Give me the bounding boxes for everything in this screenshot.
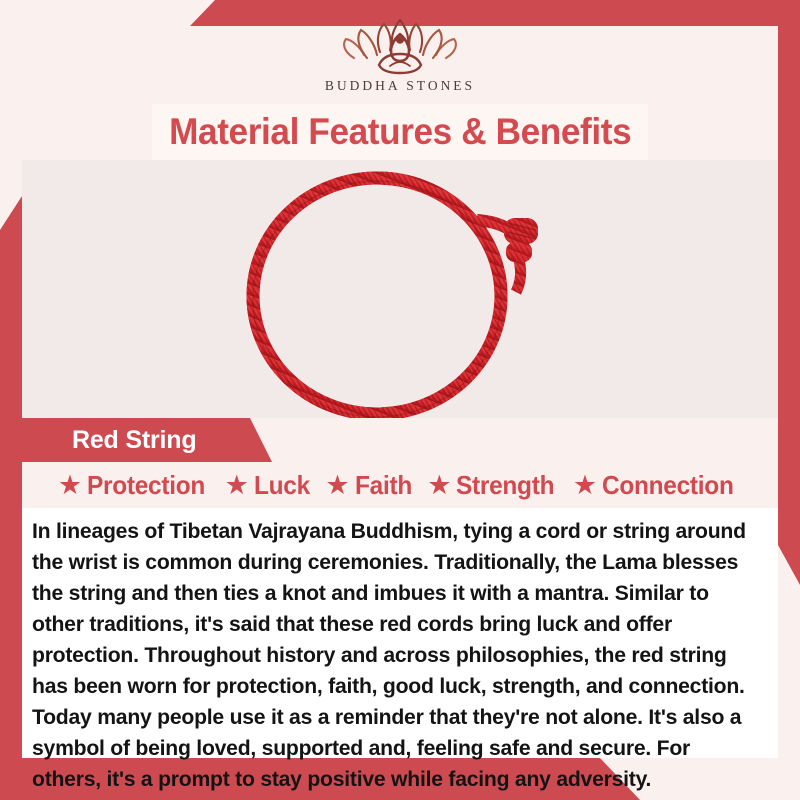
benefit-item-faith: ★ Faith <box>325 470 415 501</box>
product-image-area <box>22 160 778 418</box>
benefit-item-protection: ★ Protection <box>58 470 213 501</box>
star-icon: ★ <box>325 472 349 499</box>
infographic-page: BUDDHA STONES Material Features & Benefi… <box>0 0 800 800</box>
brand-logo: BUDDHA STONES <box>0 14 800 100</box>
brand-name: BUDDHA STONES <box>325 78 475 94</box>
sliding-knot <box>504 218 538 262</box>
star-icon: ★ <box>58 472 82 499</box>
star-icon: ★ <box>225 472 249 499</box>
material-name: Red String <box>72 426 196 455</box>
benefit-label: Connection <box>602 470 734 501</box>
benefits-row: ★ Protection ★ Luck ★ Faith ★ Strength ★… <box>22 462 778 508</box>
star-icon: ★ <box>573 472 597 499</box>
benefit-label: Protection <box>87 470 205 501</box>
benefit-label: Strength <box>456 470 554 501</box>
description-text: In lineages of Tibetan Vajrayana Buddhis… <box>32 516 753 795</box>
benefit-item-luck: ★ Luck <box>225 470 314 501</box>
star-icon: ★ <box>427 472 451 499</box>
lotus-meditation-logo-icon <box>334 14 466 76</box>
description-block: In lineages of Tibetan Vajrayana Buddhis… <box>22 508 778 758</box>
page-title: Material Features & Benefits <box>169 111 631 153</box>
benefit-label: Faith <box>355 470 412 501</box>
benefit-item-strength: ★ Strength <box>427 470 561 501</box>
red-string-bracelet-image <box>22 160 778 418</box>
material-ribbon: Red String <box>22 418 272 462</box>
title-band: Material Features & Benefits <box>152 104 648 160</box>
benefit-label: Luck <box>254 470 310 501</box>
benefit-item-connection: ★ Connection <box>573 470 742 501</box>
decor-left-band <box>0 196 22 800</box>
